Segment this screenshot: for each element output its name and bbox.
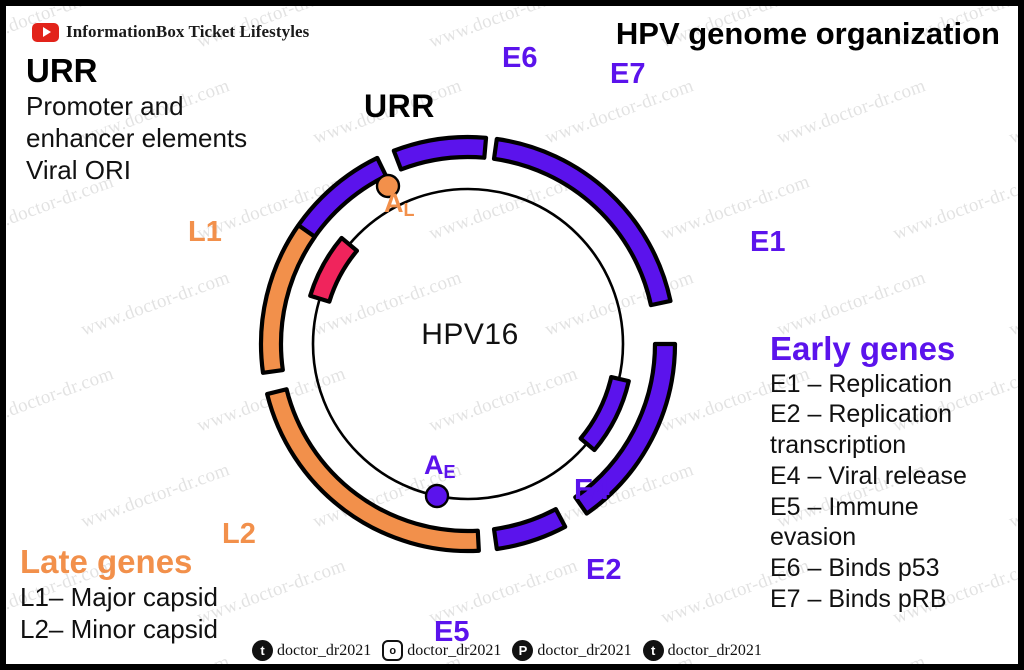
- urr-diagram-label: URR: [364, 88, 435, 125]
- pinterest-icon: P: [512, 640, 533, 661]
- panel-early-heading: Early genes: [770, 332, 967, 367]
- arc-label-e2: E2: [586, 556, 621, 585]
- panel-urr-line: enhancer elements: [26, 123, 247, 155]
- arc-e1: [494, 139, 670, 305]
- panel-urr: URR Promoter and enhancer elements Viral…: [26, 54, 247, 187]
- channel-name: InformationBox Ticket Lifestyles: [66, 22, 309, 42]
- youtube-play-icon: [32, 23, 59, 42]
- twitter-icon: t: [252, 640, 273, 661]
- arc-label-l2: L2: [222, 520, 256, 549]
- tumblr-icon: t: [643, 640, 664, 661]
- panel-early-line: E5 – Immune: [770, 492, 967, 523]
- social-item[interactable]: Pdoctor_dr2021: [512, 640, 631, 661]
- panel-early-line: E1 – Replication: [770, 369, 967, 400]
- arc-label-e6: E6: [502, 44, 537, 73]
- social-handle: doctor_dr2021: [277, 642, 371, 660]
- panel-early-line: E6 – Binds p53: [770, 553, 967, 584]
- arc-urr: [310, 238, 357, 302]
- panel-late-line: L1– Major capsid: [20, 582, 218, 614]
- channel-badge[interactable]: InformationBox Ticket Lifestyles: [32, 22, 309, 42]
- promoter-late-label: AL: [384, 190, 415, 219]
- panel-early-line: E7 – Binds pRB: [770, 584, 967, 615]
- panel-urr-line: Viral ORI: [26, 155, 247, 187]
- arc-e7: [394, 137, 486, 169]
- arc-label-e7: E7: [610, 60, 645, 89]
- arc-e5: [494, 509, 565, 549]
- page-title: HPV genome organization: [616, 16, 1000, 52]
- arc-label-l1: L1: [188, 218, 222, 247]
- promoter-early-dot: [426, 485, 448, 507]
- arc-label-e4: E4: [574, 476, 609, 505]
- panel-early-line: evasion: [770, 522, 967, 553]
- arc-e4: [581, 377, 629, 450]
- panel-late-genes: Late genes L1– Major capsid L2– Minor ca…: [20, 545, 218, 646]
- social-handle: doctor_dr2021: [537, 642, 631, 660]
- panel-early-line: E4 – Viral release: [770, 461, 967, 492]
- genome-center-label: HPV16: [410, 318, 530, 352]
- panel-early-line: E2 – Replication: [770, 399, 967, 430]
- panel-late-heading: Late genes: [20, 545, 218, 580]
- instagram-icon: o: [382, 640, 403, 661]
- arc-l1: [261, 225, 315, 373]
- social-item[interactable]: odoctor_dr2021: [382, 640, 501, 661]
- poster-canvas: www.doctor-dr.comwww.doctor-dr.comwww.do…: [0, 0, 1024, 670]
- social-bar: tdoctor_dr2021odoctor_dr2021Pdoctor_dr20…: [252, 640, 769, 661]
- social-item[interactable]: tdoctor_dr2021: [643, 640, 762, 661]
- social-handle: doctor_dr2021: [407, 642, 501, 660]
- social-item[interactable]: tdoctor_dr2021: [252, 640, 371, 661]
- panel-urr-heading: URR: [26, 54, 247, 89]
- panel-late-line: L2– Minor capsid: [20, 614, 218, 646]
- panel-urr-line: Promoter and: [26, 91, 247, 123]
- panel-early-genes: Early genes E1 – Replication E2 – Replic…: [770, 332, 967, 615]
- promoter-early-label: AE: [424, 452, 456, 481]
- arc-label-e1: E1: [750, 228, 785, 257]
- social-handle: doctor_dr2021: [668, 642, 762, 660]
- panel-early-line: transcription: [770, 430, 967, 461]
